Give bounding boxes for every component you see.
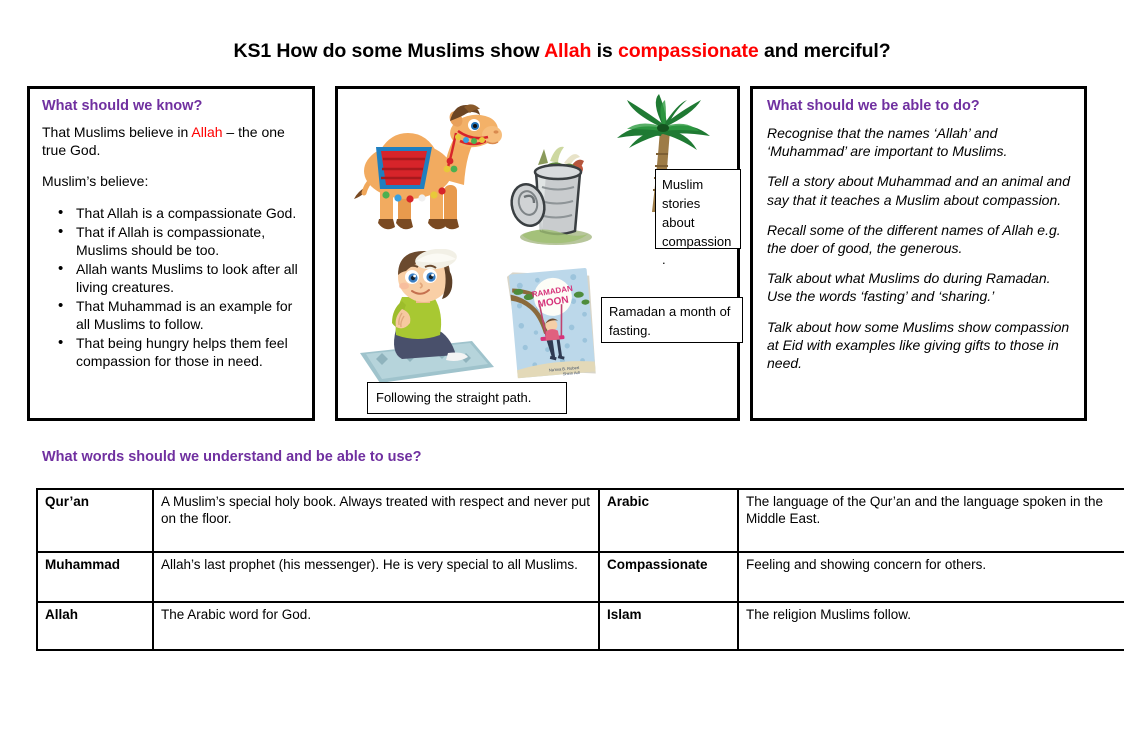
know-bullet-list: That Allah is a compassionate God. That … — [42, 204, 300, 370]
know-panel-heading: What should we know? — [42, 98, 300, 114]
page-title: KS1 How do some Muslims show Allah is co… — [0, 40, 1124, 63]
do-objective: Recall some of the different names of Al… — [767, 221, 1070, 257]
do-objective: Talk about what Muslims do during Ramada… — [767, 269, 1070, 305]
vocab-term: Islam — [599, 602, 738, 650]
page-title-compassionate: compassionate — [618, 40, 759, 62]
svg-text:Shirin Adl: Shirin Adl — [563, 370, 580, 376]
vocab-term: Arabic — [599, 489, 738, 552]
vocabulary-table: Qur’an A Muslim’s special holy book. Alw… — [36, 488, 1124, 651]
dustbin-illustration — [504, 139, 600, 249]
vocab-term: Allah — [37, 602, 153, 650]
ramadan-moon-book-illustration: RAMADAN MOON Na'ima B. Robert Shirin Adl — [501, 257, 605, 385]
vocab-definition: The language of the Qur’an and the langu… — [738, 489, 1124, 552]
camel-illustration — [346, 99, 506, 249]
page-title-allah: Allah — [544, 40, 591, 62]
page-title-lead: KS1 How do some Muslims show — [233, 40, 544, 62]
vocab-definition: The religion Muslims follow. — [738, 602, 1124, 650]
vocab-term: Qur’an — [37, 489, 153, 552]
do-objective: Talk about how some Muslims show compass… — [767, 318, 1070, 373]
vocab-term: Compassionate — [599, 552, 738, 602]
table-row: Muhammad Allah’s last prophet (his messe… — [37, 552, 1124, 602]
vocabulary-heading: What words should we understand and be a… — [42, 449, 421, 465]
do-objective: Tell a story about Muhammad and an anima… — [767, 172, 1070, 208]
callout-ramadan: Ramadan a month of fasting. — [601, 297, 743, 343]
list-item: Allah wants Muslims to look after all li… — [76, 260, 300, 296]
callout-muslim-stories: Muslim stories about compassion . — [655, 169, 741, 249]
callout-straight-path: Following the straight path. — [367, 382, 567, 414]
table-row: Allah The Arabic word for God. Islam The… — [37, 602, 1124, 650]
what-should-we-be-able-to-do-panel: What should we be able to do? Recognise … — [750, 86, 1087, 421]
know-intro-before: That Muslims believe in — [42, 124, 191, 140]
list-item: That being hungry helps them feel compas… — [76, 334, 300, 370]
what-should-we-know-panel: What should we know? That Muslims believ… — [27, 86, 315, 421]
page-title-mid: is — [591, 40, 618, 62]
vocab-definition: A Muslim’s special holy book. Always tre… — [153, 489, 599, 552]
vocab-definition: The Arabic word for God. — [153, 602, 599, 650]
illustration-panel: RAMADAN MOON Na'ima B. Robert Shirin Adl… — [335, 86, 740, 421]
praying-boy-illustration — [352, 249, 502, 389]
list-item: That Allah is a compassionate God. — [76, 204, 300, 222]
vocab-definition: Feeling and showing concern for others. — [738, 552, 1124, 602]
page-title-tail: and merciful? — [759, 40, 891, 62]
do-panel-heading: What should we be able to do? — [767, 98, 1070, 114]
vocab-definition: Allah’s last prophet (his messenger). He… — [153, 552, 599, 602]
vocab-term: Muhammad — [37, 552, 153, 602]
know-intro-paragraph: That Muslims believe in Allah – the one … — [42, 124, 300, 160]
list-item: That if Allah is compassionate, Muslims … — [76, 223, 300, 259]
do-objective: Recognise that the names ‘Allah’ and ‘Mu… — [767, 124, 1070, 160]
table-row: Qur’an A Muslim’s special holy book. Alw… — [37, 489, 1124, 552]
list-item: That Muhammad is an example for all Musl… — [76, 297, 300, 333]
know-intro-allah: Allah — [191, 124, 222, 140]
know-lead-in: Muslim’s believe: — [42, 173, 300, 191]
